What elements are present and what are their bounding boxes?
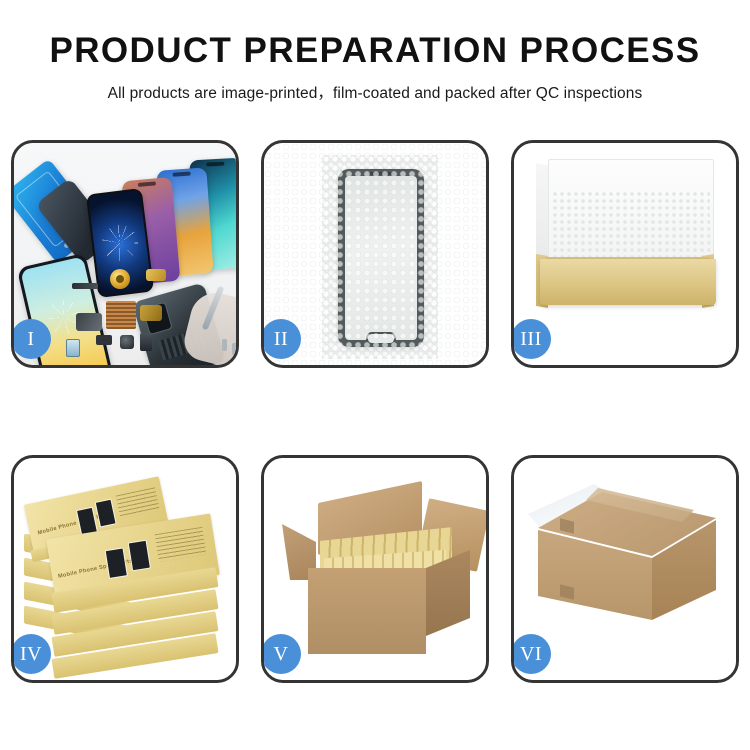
- box-art-phone: [128, 540, 151, 572]
- step-panel-1[interactable]: I: [11, 140, 239, 368]
- part-flex-cable: [140, 305, 162, 321]
- part-screw: [222, 339, 227, 351]
- step-panel-5[interactable]: V: [261, 455, 489, 683]
- box-spec-lines: [155, 527, 207, 562]
- step-panel-2[interactable]: II: [261, 140, 489, 368]
- part-camera-module: [120, 335, 134, 349]
- part-flex-cable: [146, 269, 166, 281]
- steps-row-1: I II: [0, 140, 750, 368]
- home-button-icon: [366, 332, 396, 345]
- step-badge-3: III: [511, 319, 551, 359]
- page-subtitle: All products are image-printed，film-coat…: [0, 70, 750, 103]
- step-badge-2: II: [261, 319, 301, 359]
- step-badge-1: I: [11, 319, 51, 359]
- step-panel-3[interactable]: III: [511, 140, 739, 368]
- part-connector: [96, 335, 112, 345]
- foam-padding: [552, 191, 710, 265]
- step-panel-4[interactable]: Mobile Phone Spare Parts Mobile Phone Sp…: [11, 455, 239, 683]
- kraft-box-body: [540, 259, 716, 305]
- box-art-phone: [105, 547, 128, 579]
- notch-icon: [206, 162, 224, 167]
- screen-assembly: [338, 169, 424, 347]
- step-panel-6[interactable]: VI: [511, 455, 739, 683]
- part-speaker-bar: [72, 283, 98, 289]
- step-badge-5: V: [261, 634, 301, 674]
- part-battery: [140, 333, 152, 351]
- notch-icon: [138, 181, 156, 187]
- carton-front: [308, 568, 426, 654]
- retail-box-stack: Mobile Phone Spare Parts Mobile Phone Sp…: [20, 476, 236, 672]
- box-art-phone: [95, 499, 117, 528]
- header: PRODUCT PREPARATION PROCESS All products…: [0, 0, 750, 103]
- part-chip: [66, 339, 80, 357]
- steps-row-2: Mobile Phone Spare Parts Mobile Phone Sp…: [0, 455, 750, 683]
- page-title: PRODUCT PREPARATION PROCESS: [0, 0, 750, 70]
- part-screw: [232, 343, 236, 355]
- steps-grid: I II: [0, 140, 750, 683]
- part-flex-cable: [76, 313, 102, 331]
- process-infographic: PRODUCT PREPARATION PROCESS All products…: [0, 0, 750, 750]
- step-badge-4: IV: [11, 634, 51, 674]
- part-gold-coil: [110, 269, 130, 289]
- part-copper-mesh: [106, 301, 136, 329]
- notch-icon: [173, 171, 191, 176]
- box-spec-lines: [116, 487, 160, 519]
- step-badge-6: VI: [511, 634, 551, 674]
